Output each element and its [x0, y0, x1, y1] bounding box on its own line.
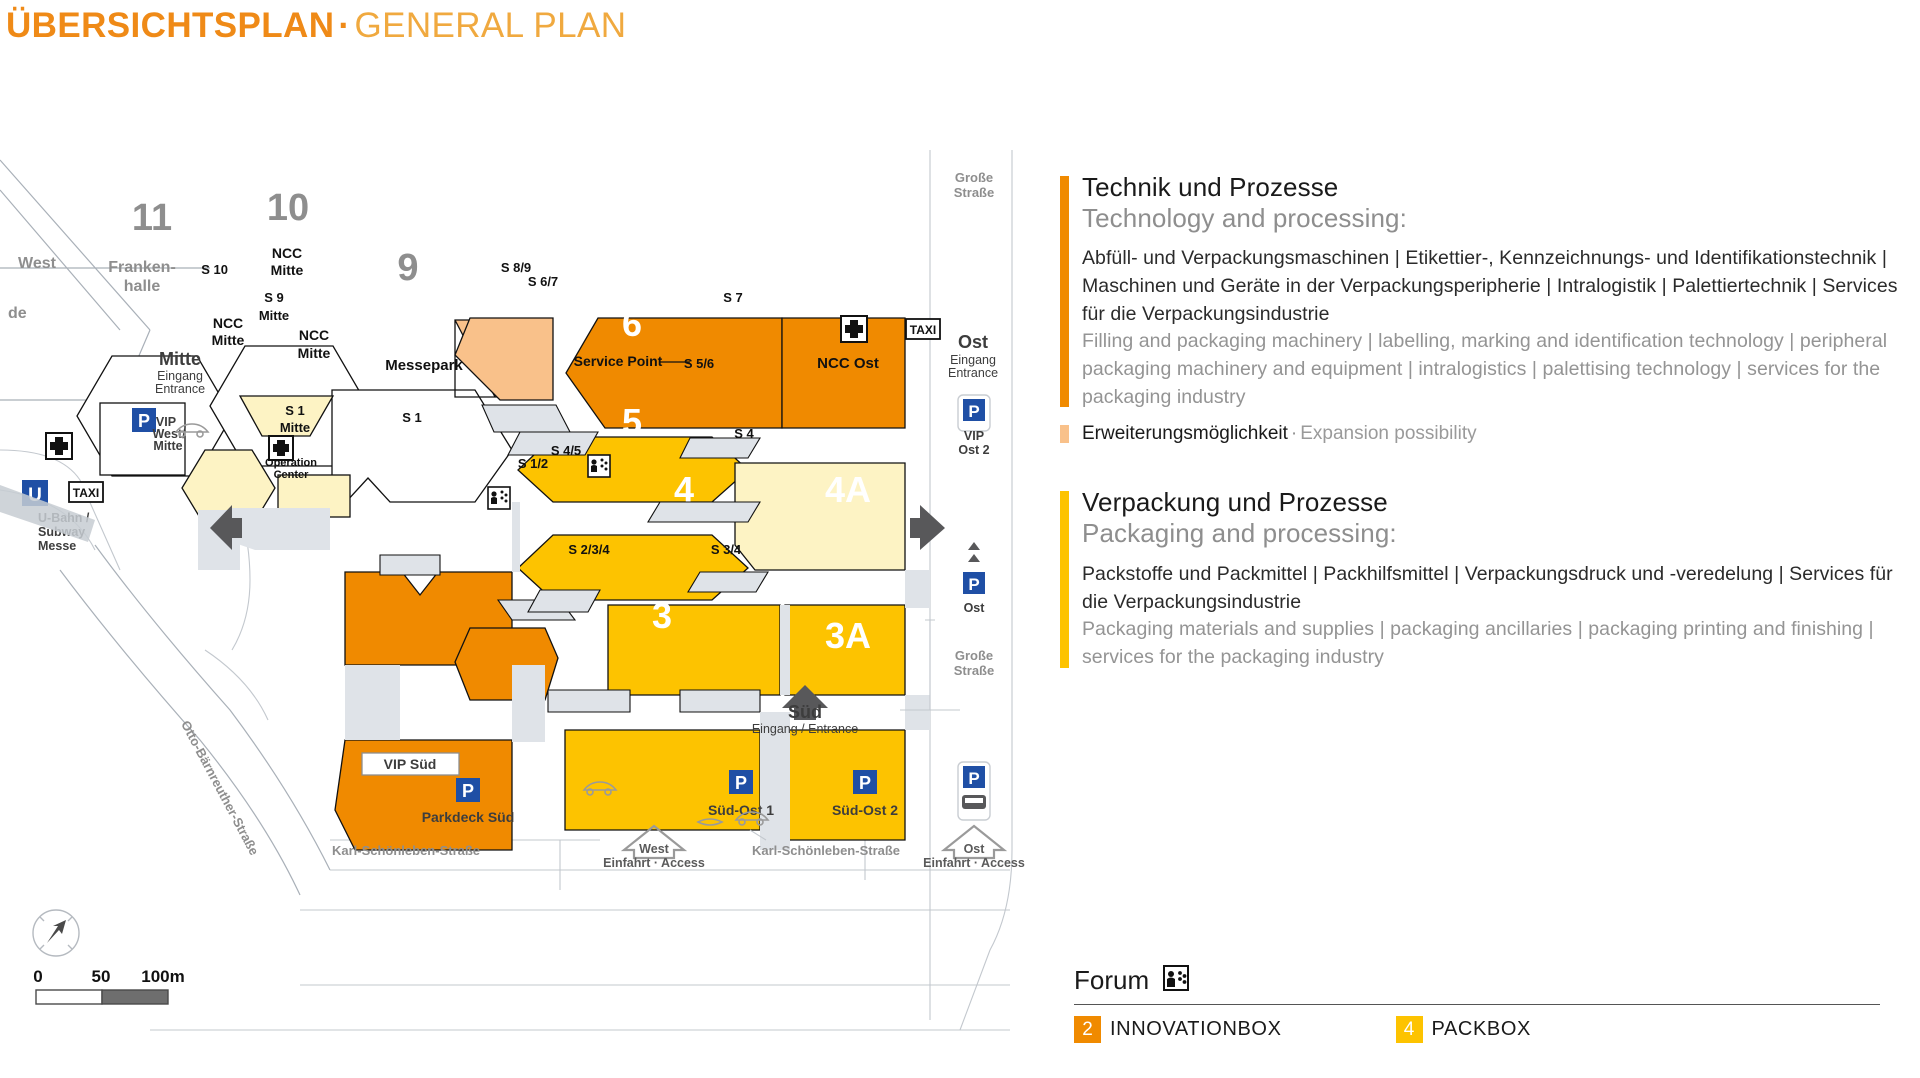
page-title-german: ÜBERSICHTSPLAN — [6, 6, 334, 45]
hall-5-label: 5 — [622, 401, 642, 442]
svg-text:P: P — [968, 769, 979, 788]
service-label-s234: S 2/3/4 — [568, 542, 610, 557]
hall-9-label: 9 — [397, 247, 418, 289]
edge-label-de: de — [8, 305, 27, 322]
hall-1-label: 1 — [398, 449, 418, 490]
hall-3a-label: 3A — [825, 615, 871, 656]
ncc-ost-label: NCC Ost — [817, 355, 879, 372]
frankenhalle-label-line2: halle — [124, 278, 161, 295]
legend-expansion-row: Erweiterungsmöglichkeit·Expansion possib… — [1060, 423, 1900, 445]
expansion-label-de: Erweiterungsmöglichkeit — [1082, 423, 1288, 444]
forum-icon-hall-2 — [488, 487, 510, 509]
legend-bar-orange — [1060, 176, 1069, 407]
svg-text:TAXI: TAXI — [910, 323, 936, 337]
messepark-label: Messepark — [385, 357, 463, 374]
scale-label-100: 100m — [141, 967, 184, 986]
svg-text:P: P — [968, 402, 979, 421]
taxi-icon-ost: TAXI — [906, 319, 940, 339]
page-title-separator: · — [334, 6, 354, 45]
legend-verpackung-title-de: Verpackung und Prozesse — [1082, 487, 1900, 518]
expansion-label-en: Expansion possibility — [1300, 423, 1476, 444]
street-grosse-1: Große — [955, 170, 993, 185]
forum-section: Forum 2 INNOVATIONBOX 4 PACKBOX — [1074, 965, 1884, 1043]
forum-item-packbox[interactable]: 4 PACKBOX — [1396, 1016, 1531, 1043]
entrance-ost[interactable]: Ost Eingang Entrance — [910, 332, 998, 550]
scale-bar: 0 50 100m — [33, 967, 184, 1004]
service-label-s67: S 6/7 — [528, 274, 558, 289]
svg-text:P: P — [462, 781, 474, 801]
street-otto-baernreuther: Otto-Bärnreuther-Straße — [178, 718, 262, 858]
legend-bar-expansion — [1060, 425, 1069, 443]
operation-center-line2: Center — [274, 469, 310, 481]
legend-verpackung-body-de: Packstoffe und Packmittel | Packhilfsmit… — [1082, 561, 1900, 616]
parking-bus-ost[interactable]: P — [958, 762, 990, 820]
hall-7[interactable]: 7 — [566, 202, 782, 428]
legend-verpackung-body-en: Packaging materials and supplies | packa… — [1082, 616, 1900, 671]
hall-6-label: 6 — [622, 303, 642, 344]
entrance-ost-sub2: Entrance — [948, 366, 998, 380]
access-ost-line2: Einfahrt · Access — [923, 856, 1025, 870]
ncc-mitte-1-line1: NCC — [272, 245, 302, 261]
taxi-icon-west: TAXI — [69, 482, 103, 502]
hall-11-label: 11 — [132, 197, 172, 239]
entrance-sued-title: Süd — [788, 702, 822, 722]
legend-section-verpackung: Verpackung und Prozesse Packaging and pr… — [1060, 487, 1900, 671]
street-grosse-2b: Straße — [954, 663, 994, 678]
entrance-ost-title: Ost — [958, 332, 988, 352]
parking-parkdeck-sued-label: Parkdeck Süd — [422, 809, 515, 825]
legend-bar-yellow — [1060, 491, 1069, 667]
street-karl-schoenleben-1: Karl-Schönleben-Straße — [332, 843, 480, 858]
service-point-label: Service Point — [574, 353, 663, 369]
hall-7-label: 7 — [662, 202, 682, 243]
forum-divider — [1074, 1004, 1880, 1005]
svg-text:P: P — [138, 411, 150, 431]
first-aid-icon-west — [46, 433, 72, 459]
scale-label-0: 0 — [33, 967, 42, 986]
service-label-s56: S 5/6 — [684, 356, 714, 371]
hall-3-label: 3 — [652, 595, 672, 636]
forum-chip-4: 4 — [1396, 1016, 1423, 1043]
service-label-s34: S 3/4 — [711, 542, 742, 557]
page-title: ÜBERSICHTSPLAN·GENERAL PLAN — [6, 6, 626, 46]
parking-sued-ost-2-label: Süd-Ost 2 — [832, 802, 898, 818]
parking-vip-sued-label: VIP Süd — [384, 756, 437, 772]
parking-vip-ost2-line1: VIP — [964, 429, 984, 443]
parking-vip-ost-2[interactable]: P VIP Ost 2 — [958, 395, 990, 457]
edge-label-west: West — [18, 255, 57, 272]
first-aid-icon-mitte — [269, 436, 293, 460]
forum-header: Forum — [1074, 965, 1884, 996]
svg-text:P: P — [735, 773, 747, 793]
service-label-s7: S 7 — [723, 290, 743, 305]
parking-vip-ost2-line2: Ost 2 — [958, 443, 989, 457]
legend-section-technik: Technik und Prozesse Technology and proc… — [1060, 172, 1900, 411]
legend-verpackung-title-en: Packaging and processing: — [1082, 518, 1900, 549]
svg-text:P: P — [859, 773, 871, 793]
street-grosse-1b: Straße — [954, 185, 994, 200]
svg-text:TAXI: TAXI — [73, 486, 99, 500]
access-ost-line1: Ost — [964, 842, 986, 856]
forum-chip-2: 2 — [1074, 1016, 1101, 1043]
service-label-s10: S 10 — [201, 262, 228, 277]
forum-icon-hall-4 — [588, 455, 610, 477]
expansion-separator: · — [1288, 423, 1300, 444]
legend-panel: Technik und Prozesse Technology and proc… — [1060, 172, 1900, 676]
access-west-line1: West — [639, 842, 669, 856]
ncc-mitte-2-line2: Mitte — [212, 332, 245, 348]
forum-label: Forum — [1074, 965, 1149, 996]
service-label-s12: S 1/2 — [518, 456, 548, 471]
legend-technik-body-de: Abfüll- und Verpackungsmaschinen | Etike… — [1082, 245, 1900, 328]
first-aid-icon-ost — [841, 316, 867, 342]
service-label-s4: S 4 — [734, 426, 754, 441]
subway-line3: Messe — [38, 539, 76, 553]
service-label-s9: S 9 — [264, 290, 284, 305]
street-karl-schoenleben-2: Karl-Schönleben-Straße — [752, 843, 900, 858]
hall-8-label: 8 — [495, 182, 515, 223]
forum-items: 2 INNOVATIONBOX 4 PACKBOX — [1074, 1016, 1884, 1043]
hall-8[interactable]: 8 — [455, 182, 553, 400]
ncc-mitte-3-line2: Mitte — [298, 345, 331, 361]
scale-label-50: 50 — [92, 967, 111, 986]
exhibition-ground-map[interactable]: .hl{stroke:#111;stroke-width:1.3;} .wh{f… — [0, 150, 1040, 1078]
page-title-english: GENERAL PLAN — [354, 6, 626, 45]
entrance-ost-sub1: Eingang — [950, 353, 996, 367]
frankenhalle-label-line1: Franken- — [108, 259, 176, 276]
ncc-mitte-1-line2: Mitte — [271, 262, 304, 278]
entrance-sued-sub1: Eingang / Entrance — [752, 722, 858, 736]
street-grosse-2: Große — [955, 648, 993, 663]
hall-4a-label: 4A — [825, 469, 871, 510]
service-label-s1-a: S 1 — [285, 403, 305, 418]
forum-name-packbox: PACKBOX — [1432, 1018, 1531, 1041]
forum-item-innovationbox[interactable]: 2 INNOVATIONBOX — [1074, 1016, 1282, 1043]
presentation-icon — [1163, 965, 1189, 996]
entrance-mitte-sub1: Eingang — [157, 369, 203, 383]
entrance-mitte-sub2: Entrance — [155, 382, 205, 396]
parking-ost-line1: Ost — [964, 601, 986, 615]
entrance-mitte-title: Mitte — [159, 349, 201, 369]
hall-7a-label: 7A — [822, 202, 868, 243]
legend-technik-title-en: Technology and processing: — [1082, 203, 1900, 234]
ncc-mitte-2-line1: NCC — [213, 315, 243, 331]
legend-technik-body-en: Filling and packaging machinery | labell… — [1082, 328, 1900, 411]
parking-vip-sued[interactable]: VIP Süd — [362, 753, 459, 775]
forum-name-innovationbox: INNOVATIONBOX — [1110, 1018, 1282, 1041]
service-label-s1: S 1 — [402, 410, 422, 425]
compass-icon — [33, 910, 79, 956]
service-label-s45: S 4/5 — [551, 443, 581, 458]
access-west-line2: Einfahrt · Access — [603, 856, 705, 870]
service-label-s89: S 8/9 — [501, 260, 531, 275]
legend-technik-title-de: Technik und Prozesse — [1082, 172, 1900, 203]
service-label-s9-mitte: Mitte — [259, 308, 289, 323]
parking-ost[interactable]: P Ost — [963, 542, 985, 615]
svg-text:P: P — [968, 575, 979, 594]
parking-vip-west-line3: Mitte — [153, 439, 182, 453]
access-west[interactable]: West Einfahrt · Access — [603, 826, 705, 870]
service-label-s1-mitte: Mitte — [280, 420, 310, 435]
access-ost[interactable]: Ost Einfahrt · Access — [923, 826, 1025, 870]
ncc-mitte-3-line1: NCC — [299, 327, 329, 343]
hall-10-label: 10 — [267, 187, 309, 229]
